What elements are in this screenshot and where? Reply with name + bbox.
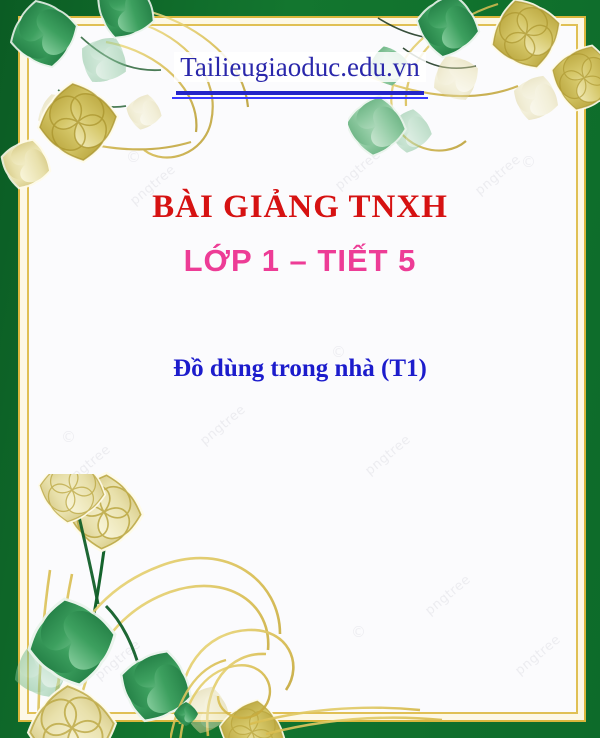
- slide-canvas: pngtree pngtree pngtree pngtree pngtree …: [0, 0, 600, 738]
- lesson-title-main: BÀI GIẢNG TNXH: [0, 189, 600, 226]
- lesson-title-sub: LỚP 1 – TIẾT 5: [0, 243, 600, 279]
- underline-thin: [172, 97, 428, 99]
- underline-thick: [176, 91, 424, 95]
- lesson-title-topic: Đồ dùng trong nhà (T1): [0, 355, 600, 383]
- site-name: Tailieugiaoduc.edu.vn: [0, 52, 600, 83]
- site-name-text: Tailieugiaoduc.edu.vn: [174, 52, 426, 82]
- slide-content: Tailieugiaoduc.edu.vn BÀI GIẢNG TNXH LỚP…: [0, 0, 600, 738]
- site-name-underline: [0, 91, 600, 99]
